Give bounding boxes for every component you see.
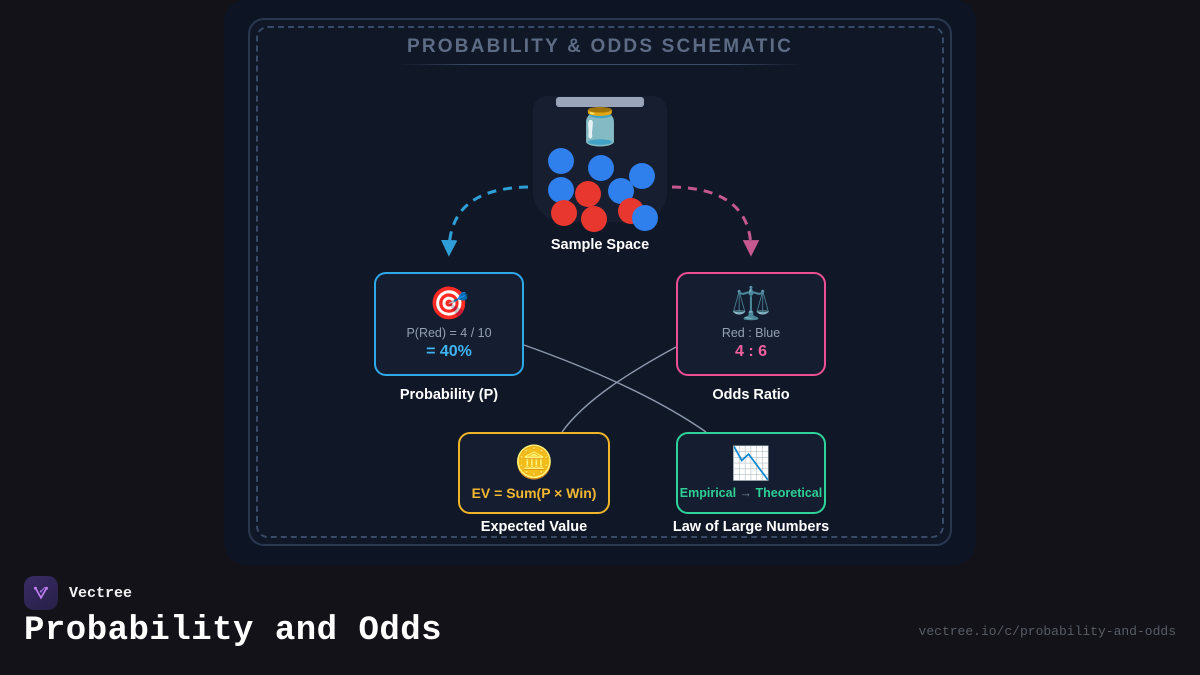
balance-scale-icon: ⚖️ bbox=[731, 287, 771, 319]
ball-1 bbox=[548, 148, 574, 174]
dart-target-icon: 🎯 bbox=[429, 287, 469, 319]
page-url: vectree.io/c/probability-and-odds bbox=[919, 624, 1176, 639]
node-expected-value[interactable]: 🪙 EV = Sum(P × Win) bbox=[458, 432, 610, 514]
expected-value-formula: EV = Sum(P × Win) bbox=[472, 485, 597, 501]
gold-coin-icon: 🪙 bbox=[514, 446, 554, 478]
vectree-logo-icon bbox=[24, 576, 58, 610]
ball-4 bbox=[548, 177, 574, 203]
lln-formula-left: Empirical bbox=[680, 486, 736, 500]
odds-value: 4 : 6 bbox=[735, 343, 767, 361]
sample-space-label: Sample Space bbox=[500, 237, 700, 253]
ball-5 bbox=[575, 181, 601, 207]
lln-formula: Empirical → Theoretical bbox=[680, 486, 822, 500]
node-label-expected-value: Expected Value bbox=[458, 519, 610, 535]
title-underline bbox=[400, 64, 800, 65]
ball-2 bbox=[588, 155, 614, 181]
page-title: Probability and Odds bbox=[24, 612, 442, 650]
node-law-of-large-numbers[interactable]: 📉 Empirical → Theoretical bbox=[676, 432, 826, 514]
brand-name: Vectree bbox=[69, 585, 132, 602]
odds-expression: Red : Blue bbox=[722, 326, 780, 340]
ball-8 bbox=[581, 206, 607, 232]
probability-expression: P(Red) = 4 / 10 bbox=[406, 326, 491, 340]
chart-decreasing-icon: 📉 bbox=[731, 447, 771, 479]
node-label-odds-ratio: Odds Ratio bbox=[676, 387, 826, 403]
probability-value: = 40% bbox=[426, 343, 472, 361]
lln-formula-right: Theoretical bbox=[756, 486, 823, 500]
right-arrow-icon: → bbox=[740, 486, 753, 500]
screenshot-root: PROBABILITY & ODDS SCHEMATIC 🫙 Sample Sp… bbox=[0, 0, 1200, 675]
schematic-title: PROBABILITY & ODDS SCHEMATIC bbox=[248, 36, 952, 58]
node-probability[interactable]: 🎯 P(Red) = 4 / 10 = 40% bbox=[374, 272, 524, 376]
brand-row: Vectree bbox=[24, 576, 132, 610]
node-label-law-of-large-numbers: Law of Large Numbers bbox=[650, 519, 852, 535]
node-label-probability: Probability (P) bbox=[374, 387, 524, 403]
ball-10 bbox=[632, 205, 658, 231]
jar-emoji-icon: 🫙 bbox=[533, 109, 667, 145]
node-odds-ratio[interactable]: ⚖️ Red : Blue 4 : 6 bbox=[676, 272, 826, 376]
ball-7 bbox=[551, 200, 577, 226]
